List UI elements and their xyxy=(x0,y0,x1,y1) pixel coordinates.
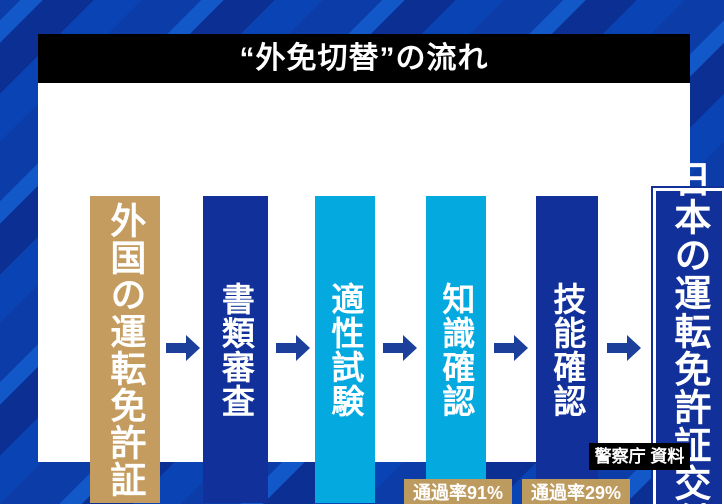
flow-step-knowledge-check: 知識確認 xyxy=(426,196,486,503)
flow-step-label: 知識確認 xyxy=(439,282,473,418)
flow-diagram-panel: 外国の運転免許証 書類審査 適性試験 知識確認 技能確認 日本の運転免許証交付 … xyxy=(38,83,690,462)
arrow-right-icon-3 xyxy=(383,333,417,363)
pass-rate-label: 通過率29% xyxy=(531,484,621,502)
flow-step-aptitude-test: 適性試験 xyxy=(315,196,375,503)
infographic-root: “外免切替”の流れ xyxy=(0,0,724,504)
title-banner: “外免切替”の流れ xyxy=(38,34,690,83)
arrow-right-icon-2 xyxy=(276,333,310,363)
page-title: “外免切替”の流れ xyxy=(240,44,489,74)
pass-rate-label: 通過率91% xyxy=(413,484,503,502)
flow-step-label: 書類審査 xyxy=(219,282,253,418)
source-credit: 警察庁 資料 xyxy=(589,443,690,470)
flow-step-foreign-license: 外国の運転免許証 xyxy=(90,196,160,503)
flow-step-label: 適性試験 xyxy=(328,282,362,418)
pass-rate-badge-skill: 通過率29% xyxy=(522,479,630,504)
pass-rate-badge-knowledge: 通過率91% xyxy=(404,479,512,504)
source-credit-label: 警察庁 資料 xyxy=(595,448,685,465)
arrow-right-icon-5 xyxy=(607,333,641,363)
arrow-right-icon-4 xyxy=(494,333,528,363)
flow-step-document-review: 書類審査 xyxy=(203,196,268,503)
arrow-right-icon-1 xyxy=(166,333,200,363)
flow-step-label: 技能確認 xyxy=(550,282,584,418)
flow-step-label: 外国の運転免許証 xyxy=(107,202,144,498)
